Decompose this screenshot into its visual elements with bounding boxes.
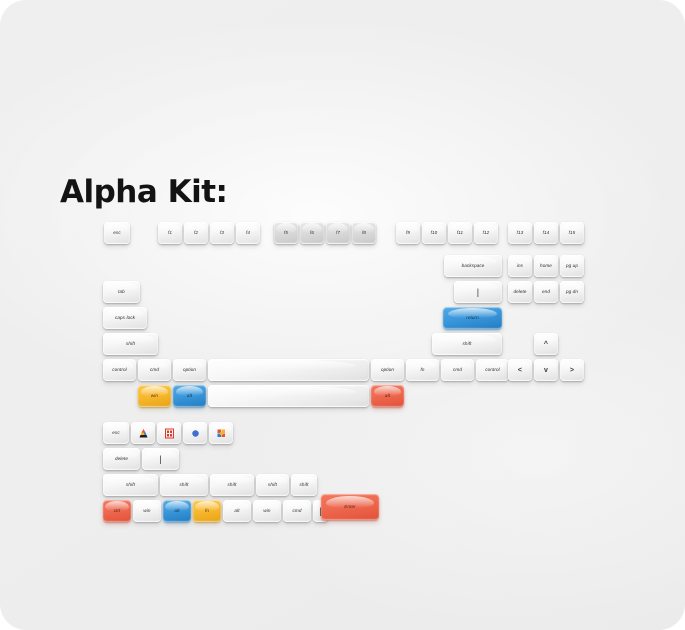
keycap-fn[interactable]: fn <box>193 500 221 522</box>
keycap-legend: cmd <box>453 368 462 373</box>
keycap-pg-dn[interactable]: pg dn <box>560 281 584 303</box>
keycap-legend: alt <box>234 509 239 514</box>
keycap-legend: ctrl <box>114 509 121 514</box>
keycap-end[interactable]: end <box>534 281 558 303</box>
keycap-legend: pg up <box>566 264 578 269</box>
keycap-fn[interactable]: fn <box>406 359 439 381</box>
keycap-alt[interactable]: alt <box>223 500 251 522</box>
keycap-win[interactable]: win <box>253 500 281 522</box>
keycap-f15[interactable]: f15 <box>560 222 584 244</box>
keycap-legend: control <box>485 368 500 373</box>
keycap-legend: control <box>112 368 127 373</box>
keycap-legend: f12 <box>483 231 490 236</box>
keycap-return[interactable]: return <box>443 307 502 329</box>
keycap-legend: return <box>466 316 479 321</box>
color-grid-icon[interactable]: color-grid <box>209 422 233 444</box>
keycap-layout: escf1f2f3f4f5f6f7f8f9f10f11f12f13f14f15b… <box>0 0 685 630</box>
keycap-legend: shift <box>268 483 277 488</box>
keycap-delete[interactable]: delete <box>103 448 140 470</box>
keycap-legend: f8 <box>362 231 366 236</box>
keycap-f7[interactable]: f7 <box>326 222 350 244</box>
keycap-legend: f9 <box>406 231 410 236</box>
color-grid-icon <box>216 428 227 439</box>
keycap--[interactable]: < <box>508 359 532 381</box>
keycap-win[interactable]: win <box>133 500 161 522</box>
keycap-legend: win <box>151 394 158 399</box>
keycap-legend: option <box>183 368 196 373</box>
keycap-spacebar[interactable] <box>208 385 369 407</box>
keycap-legend: f6 <box>310 231 314 236</box>
blue-dot-icon <box>190 428 201 439</box>
keycap-legend: win <box>143 509 150 514</box>
keycap-f10[interactable]: f10 <box>422 222 446 244</box>
keycap-caps-lock[interactable]: caps lock <box>103 307 147 329</box>
keycap-f3[interactable]: f3 <box>210 222 234 244</box>
keycap-legend: v <box>544 367 548 374</box>
keycap-legend: ^ <box>544 341 548 348</box>
keycap-legend: f15 <box>569 231 576 236</box>
keycap-legend: fn <box>420 368 424 373</box>
keycap-f5[interactable]: f5 <box>274 222 298 244</box>
pyramid-icon[interactable]: pyramid <box>131 422 155 444</box>
keycap-legend: home <box>540 264 552 269</box>
keycap-cmd[interactable]: cmd <box>138 359 171 381</box>
keycap--[interactable]: > <box>560 359 584 381</box>
keycap-legend: f5 <box>284 231 288 236</box>
keycap-v[interactable]: v <box>534 359 558 381</box>
keycap-control[interactable]: control <box>476 359 509 381</box>
keycap-legend: f2 <box>194 231 198 236</box>
keycap-legend: f4 <box>246 231 250 236</box>
blue-dot-icon[interactable]: blue-dot <box>183 422 207 444</box>
keycap-backspace[interactable]: backspace <box>444 255 502 277</box>
keycap--[interactable]: ^ <box>534 333 558 355</box>
keycap-shift[interactable]: shift <box>160 474 208 496</box>
keycap-legend: | <box>319 507 321 516</box>
keycap-f14[interactable]: f14 <box>534 222 558 244</box>
keycap-legend: win <box>263 509 270 514</box>
keycap-legend: delete <box>115 457 128 462</box>
keycap-cmd[interactable]: cmd <box>283 500 311 522</box>
keycap-legend: < <box>518 367 522 374</box>
keycap-f6[interactable]: f6 <box>300 222 324 244</box>
keycap-legend: alt <box>187 394 192 399</box>
keycap-f4[interactable]: f4 <box>236 222 260 244</box>
keycap-alt[interactable]: alt <box>163 500 191 522</box>
keycap-legend: esc <box>112 431 119 436</box>
keycap-legend: f13 <box>517 231 524 236</box>
keycap-shift[interactable]: shift <box>103 474 158 496</box>
keycap-spacebar[interactable] <box>208 359 369 381</box>
keycap-legend: f7 <box>336 231 340 236</box>
keycap-legend: shift <box>300 483 309 488</box>
keycap--[interactable]: | <box>142 448 179 470</box>
keycap-legend: caps lock <box>115 316 135 321</box>
keycap-ctrl[interactable]: ctrl <box>103 500 131 522</box>
keycap-legend: pg dn <box>566 290 578 295</box>
red-grid-icon[interactable]: red-grid <box>157 422 181 444</box>
keycap-f13[interactable]: f13 <box>508 222 532 244</box>
keycap-legend: f1 <box>168 231 172 236</box>
keycap-home[interactable]: home <box>534 255 558 277</box>
keycap-f12[interactable]: f12 <box>474 222 498 244</box>
keycap-f1[interactable]: f1 <box>158 222 182 244</box>
keycap-shift[interactable]: shift <box>256 474 289 496</box>
keycap-legend: end <box>542 290 550 295</box>
keycap-legend: f11 <box>457 231 463 236</box>
keycap-legend: alt <box>385 394 390 399</box>
keycap-delete[interactable]: delete <box>508 281 532 303</box>
keycap-legend: shift <box>126 342 135 347</box>
keycap-win[interactable]: win <box>138 385 171 407</box>
product-card: Alpha Kit: escf1f2f3f4f5f6f7f8f9f10f11f1… <box>0 0 685 630</box>
keycap-legend: tab <box>118 290 125 295</box>
keycap-shift[interactable]: shift <box>210 474 254 496</box>
keycap-legend: ins <box>517 264 523 269</box>
keycap-legend: | <box>477 288 479 297</box>
keycap-shift[interactable]: shift <box>103 333 158 355</box>
keycap-legend: fn <box>205 509 209 514</box>
keycap-legend: > <box>570 367 574 374</box>
keycap-legend: f10 <box>431 231 438 236</box>
keycap-option[interactable]: option <box>173 359 206 381</box>
keycap-f2[interactable]: f2 <box>184 222 208 244</box>
keycap-legend: shift <box>228 483 237 488</box>
keycap-f9[interactable]: f9 <box>396 222 420 244</box>
keycap-shift[interactable]: shift <box>432 333 502 355</box>
red-grid-icon <box>164 428 175 439</box>
keycap-legend: | <box>159 455 161 464</box>
keycap--[interactable]: | <box>454 281 502 303</box>
keycap-option[interactable]: option <box>371 359 404 381</box>
keycap-ins[interactable]: ins <box>508 255 532 277</box>
keycap-legend: delete <box>513 290 526 295</box>
keycap-legend: alt <box>174 509 179 514</box>
keycap-alt[interactable]: alt <box>371 385 404 407</box>
keycap-legend: esc <box>113 231 120 236</box>
keycap-tab[interactable]: tab <box>103 281 140 303</box>
keycap-control[interactable]: control <box>103 359 136 381</box>
keycap-legend: shift <box>180 483 189 488</box>
keycap-legend: shift <box>126 483 135 488</box>
keycap-legend: cmd <box>293 509 302 514</box>
keycap-pg-up[interactable]: pg up <box>560 255 584 277</box>
keycap-legend: f3 <box>220 231 224 236</box>
keycap-esc[interactable]: esc <box>103 422 129 444</box>
keycap-esc[interactable]: esc <box>104 222 130 244</box>
keycap-legend: cmd <box>150 368 159 373</box>
keycap-legend: backspace <box>462 264 485 269</box>
keycap-legend: Enter <box>344 505 355 510</box>
keycap-f11[interactable]: f11 <box>448 222 472 244</box>
keycap-shift[interactable]: shift <box>291 474 317 496</box>
keycap-enter[interactable]: Enter <box>321 494 379 520</box>
keycap-alt[interactable]: alt <box>173 385 206 407</box>
keycap-legend: shift <box>463 342 472 347</box>
keycap-cmd[interactable]: cmd <box>441 359 474 381</box>
keycap-legend: f14 <box>543 231 550 236</box>
keycap-legend: option <box>381 368 394 373</box>
keycap-f8[interactable]: f8 <box>352 222 376 244</box>
pyramid-icon <box>138 428 149 439</box>
